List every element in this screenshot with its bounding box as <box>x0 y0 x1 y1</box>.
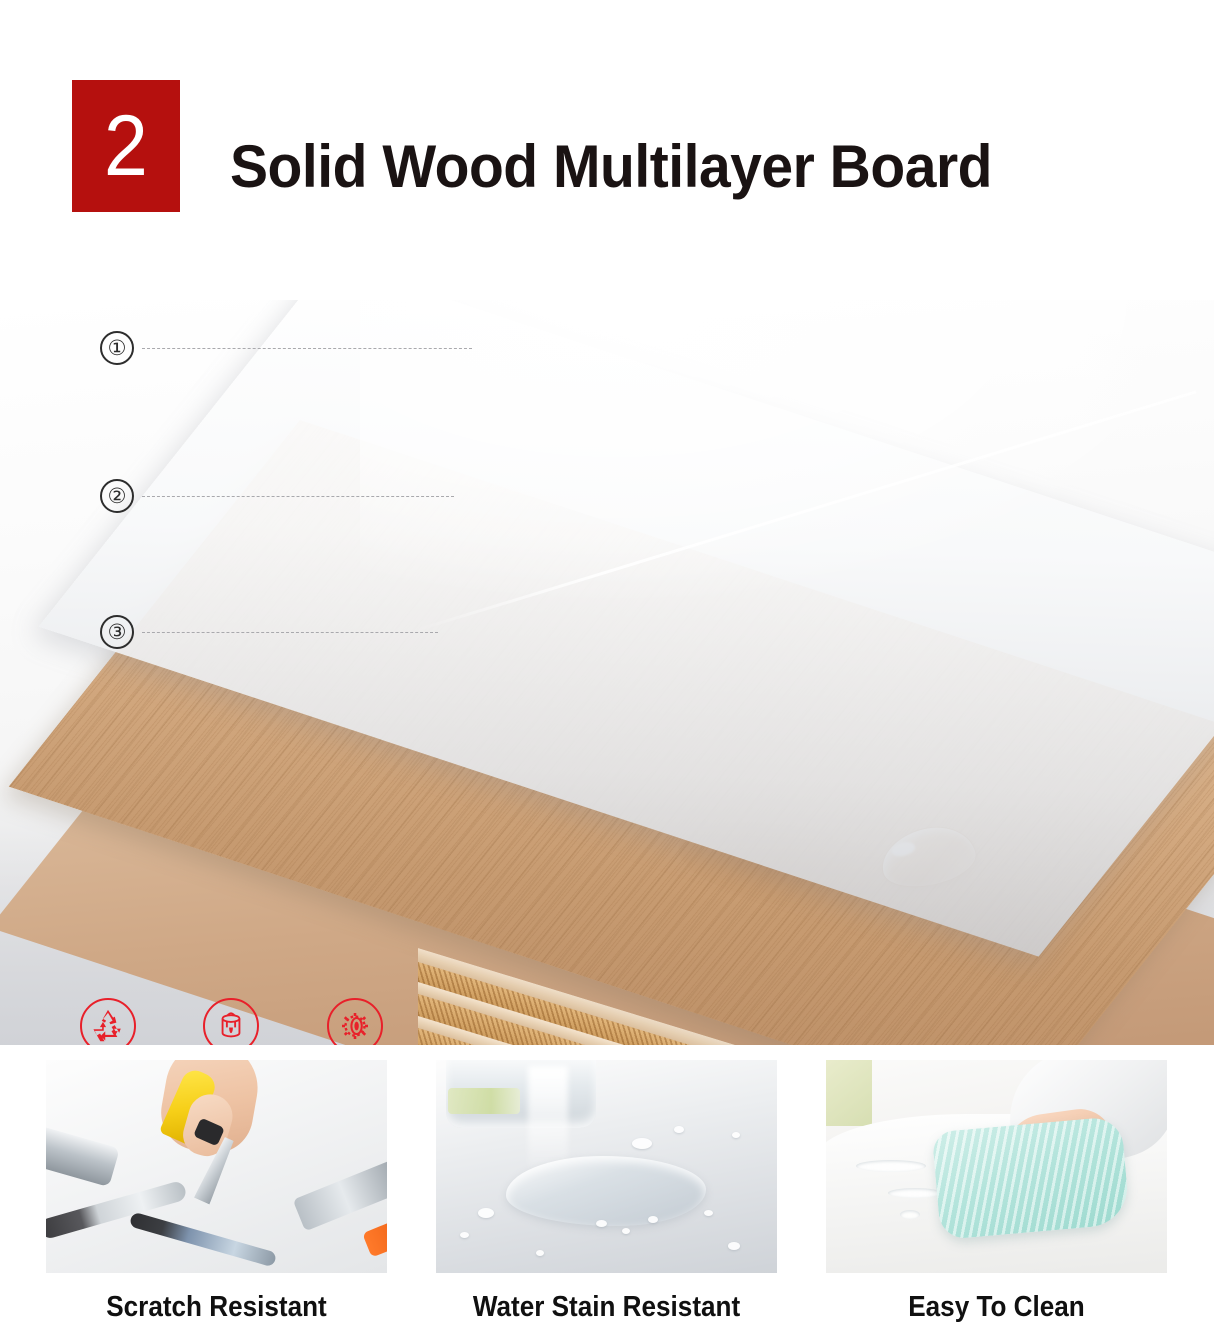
water-bead <box>704 1210 713 1216</box>
callout-basic-layer: ③ <box>100 612 438 652</box>
screwdriver-blue <box>129 1212 277 1268</box>
exploded-board-illustration: ① ② ③ <box>0 300 1214 1045</box>
gear-eco-icon <box>327 998 383 1045</box>
water-bead <box>728 1242 740 1250</box>
callout-marker: ③ <box>100 615 134 649</box>
water-puddle <box>506 1156 706 1226</box>
water-bead <box>622 1228 630 1234</box>
page-title: Solid Wood Multilayer Board <box>230 118 1142 214</box>
feature-scratch-resistant: Scratch Resistant <box>46 1060 387 1324</box>
icon-cell <box>327 986 450 1045</box>
step-number-badge: 2 <box>72 80 180 212</box>
pliers-grip <box>362 1212 387 1257</box>
recycle-icon <box>80 998 136 1045</box>
feature-strip: Scratch Resistant Water Stain <box>0 1045 1214 1334</box>
water-bead <box>478 1208 494 1218</box>
callout-leader-line <box>142 496 454 497</box>
callout-protective-layer: ① <box>100 328 472 368</box>
header-section: 2 Solid Wood Multilayer Board <box>0 0 1214 300</box>
microfiber-cloth <box>932 1116 1131 1240</box>
feature-water-stain-resistant: Water Stain Resistant <box>436 1060 777 1324</box>
socket-driver <box>46 1125 120 1187</box>
water-bead <box>596 1220 607 1227</box>
water-bead <box>732 1132 740 1138</box>
feature-label: Easy To Clean <box>843 1291 1150 1324</box>
paint-bucket-icon <box>203 998 259 1045</box>
callout-marker: ② <box>100 479 134 513</box>
icon-cell <box>203 986 326 1045</box>
glass-reflection <box>448 1088 520 1114</box>
water-bead <box>536 1250 544 1256</box>
certification-icon-grid <box>80 986 450 1045</box>
pliers <box>293 1159 387 1232</box>
icon-cell <box>80 986 203 1045</box>
feature-label: Scratch Resistant <box>63 1291 370 1324</box>
easy-to-clean-photo <box>826 1060 1167 1273</box>
water-bead <box>648 1216 658 1223</box>
callout-decorative-layer: ② <box>100 476 454 516</box>
water-streak <box>888 1188 942 1198</box>
callout-marker: ① <box>100 331 134 365</box>
water-stain-resistant-photo <box>436 1060 777 1273</box>
water-bead <box>632 1138 652 1149</box>
feature-label: Water Stain Resistant <box>453 1291 760 1324</box>
product-infographic-page: 2 Solid Wood Multilayer Board <box>0 0 1214 1334</box>
water-streak <box>856 1160 926 1172</box>
callout-leader-line <box>142 348 472 349</box>
scratch-resistant-photo <box>46 1060 387 1273</box>
water-bead <box>460 1232 469 1238</box>
water-bead <box>674 1126 684 1133</box>
feature-easy-to-clean: Easy To Clean <box>826 1060 1167 1324</box>
callout-leader-line <box>142 632 438 633</box>
background-greenery <box>826 1060 872 1126</box>
step-number-text: 2 <box>104 103 148 189</box>
water-streak <box>900 1210 920 1219</box>
